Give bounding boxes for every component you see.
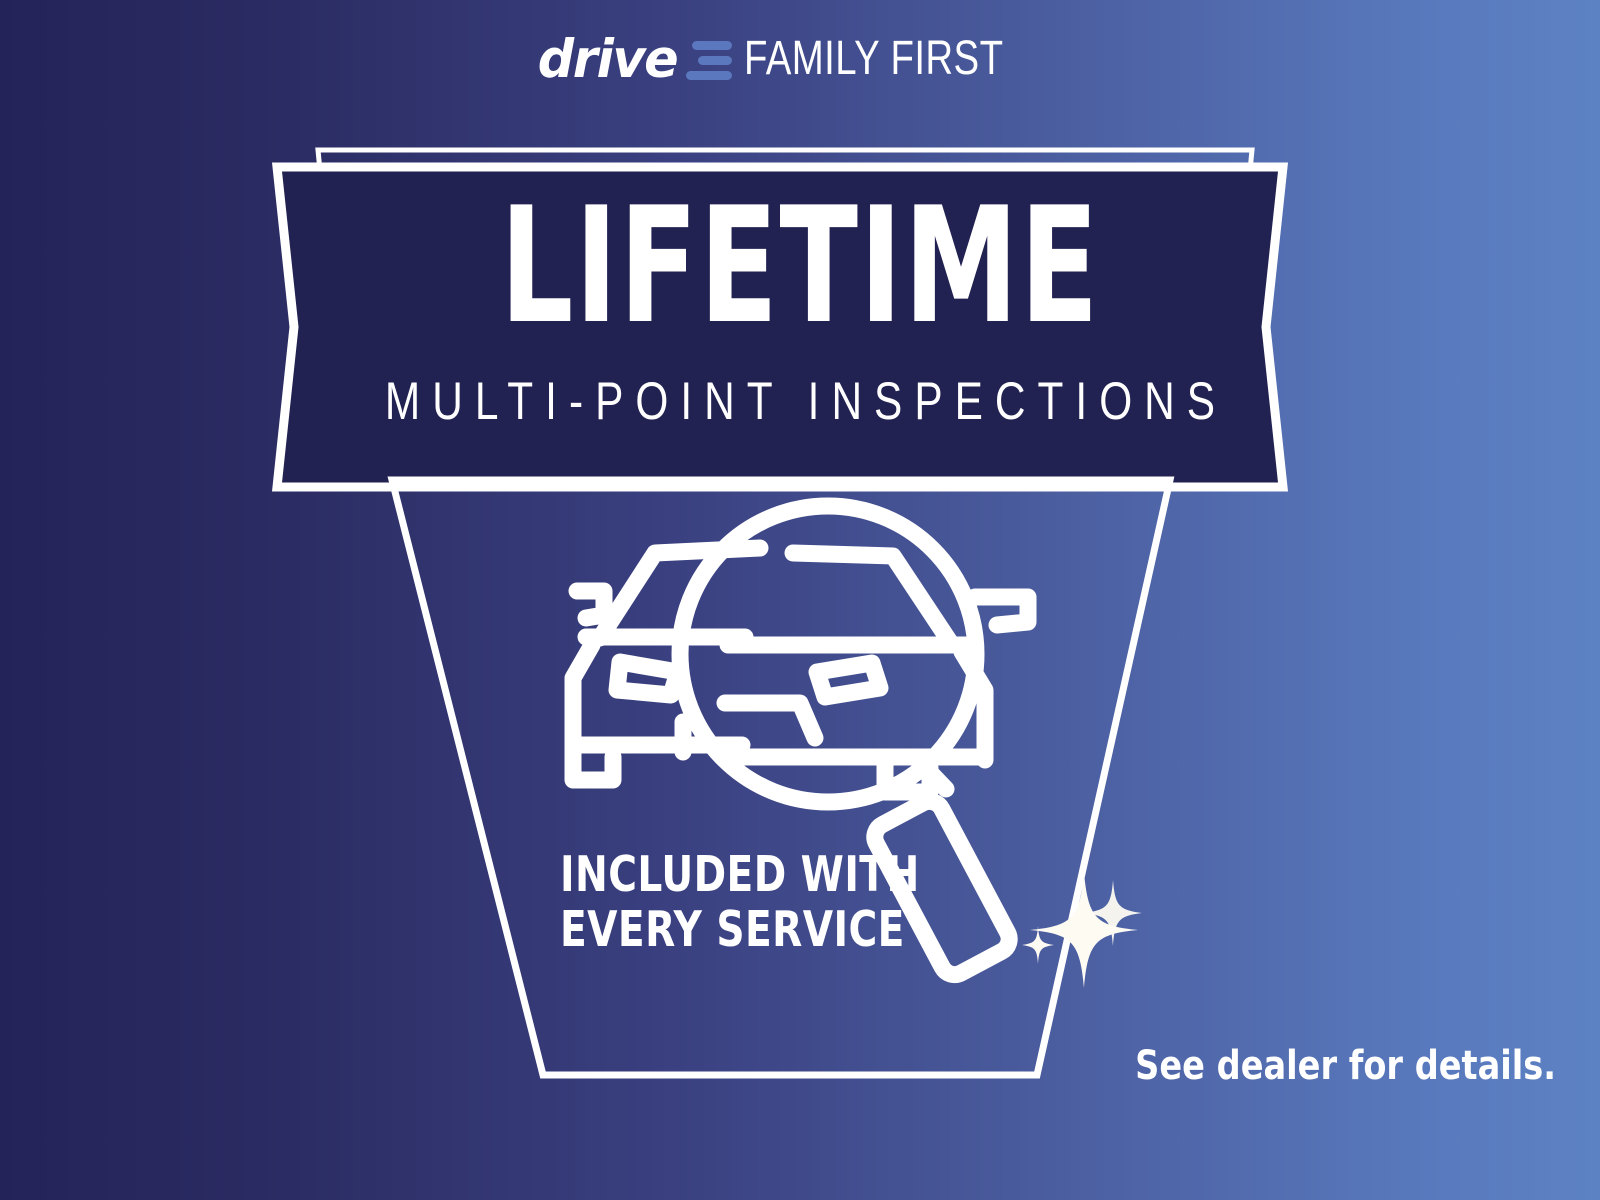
- badge-caption-line-2: EVERY SERVICE: [560, 903, 920, 958]
- car-front-icon: [573, 548, 760, 780]
- brand-tagline: FAMILY FIRST: [744, 35, 1003, 83]
- sparkle-stars-icon: [1022, 872, 1142, 988]
- badge-caption-line-1: INCLUDED WITH: [560, 848, 920, 903]
- sparkle-small: [1022, 926, 1054, 964]
- sparkle-large: [1030, 872, 1138, 988]
- three-stacked-bars-icon: [686, 41, 732, 80]
- shield-trapezoid-outline: [392, 480, 1170, 1075]
- disclaimer-text: See dealer for details.: [1135, 1046, 1556, 1086]
- banner-headline: LIFETIME: [224, 186, 1376, 346]
- brand-lockup: drive FAMILY FIRST: [0, 28, 1600, 90]
- badge-caption: INCLUDED WITH EVERY SERVICE: [560, 848, 920, 958]
- banner-subheadline: MULTI-POINT INSPECTIONS: [160, 375, 1440, 428]
- sparkle-medium: [1084, 880, 1142, 946]
- brand-wordmark: drive: [538, 33, 677, 86]
- car-front-icon-magnified: [722, 553, 1028, 792]
- promo-banner-canvas: drive FAMILY FIRST LIFETIME MULTI-POINT …: [0, 0, 1600, 1200]
